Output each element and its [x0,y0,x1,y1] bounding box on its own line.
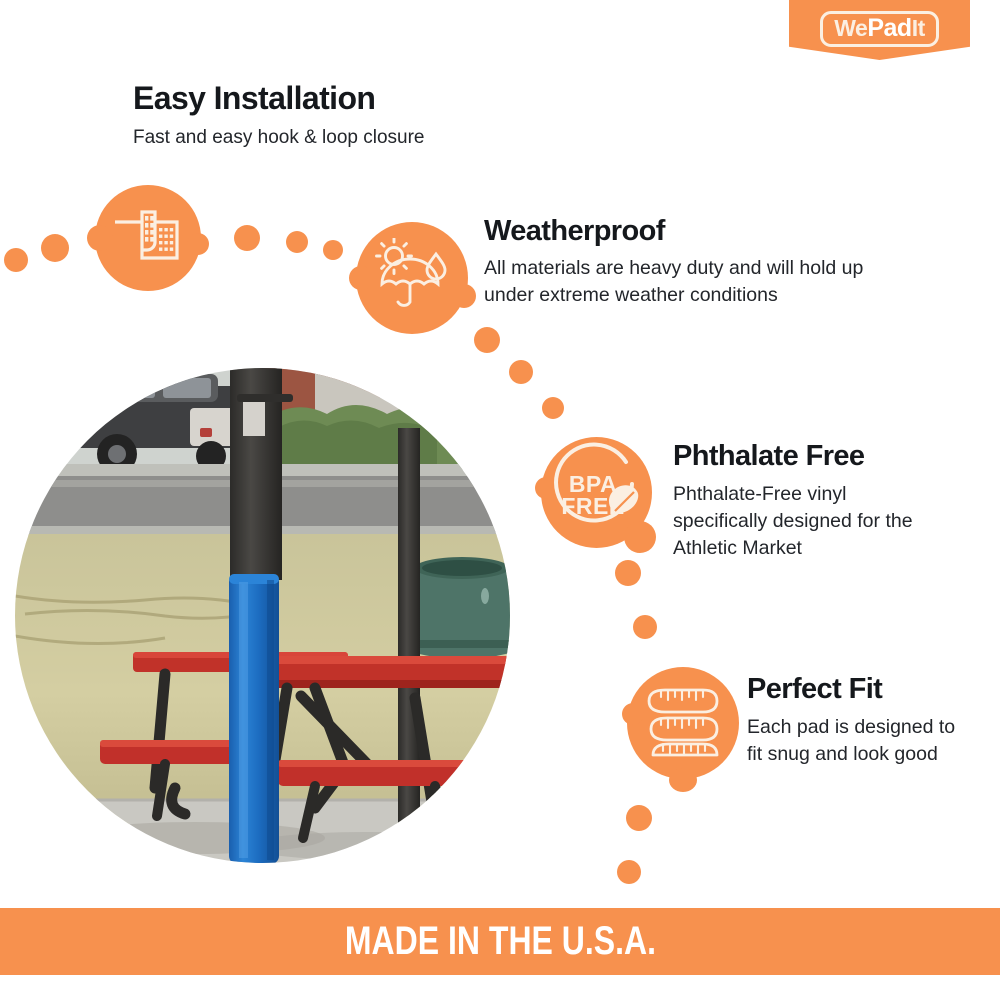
feature-title-phthalate-free: Phthalate Free [673,440,864,473]
circle-blob [187,233,209,255]
logo-text-it: It [912,17,925,40]
feature-icon-circle-perfect-fit[interactable] [627,667,739,779]
brand-logo-banner[interactable]: We Pad It [789,0,970,60]
feature-icon-circle-easy-installation[interactable] [95,185,201,291]
logo-text-pad: Pad [867,16,911,41]
trail-dot [615,560,641,586]
trail-dot [633,615,657,639]
circle-blob [87,225,113,251]
trail-dot [509,360,533,384]
trail-dot [626,805,652,831]
made-in-usa-text: MADE IN THE U.S.A. [344,919,655,964]
measuring-tape-icon [641,681,725,766]
circle-blob [452,284,476,308]
hook-and-loop-icon [111,206,185,271]
trail-dot [286,231,308,253]
feature-desc-easy-installation: Fast and easy hook & loop closure [133,124,425,151]
trail-dot [617,860,641,884]
feature-icon-circle-phthalate-free[interactable]: BPA FREE [541,437,652,548]
bpa-free-leaf-icon: BPA FREE [541,437,652,548]
made-in-usa-banner: MADE IN THE U.S.A. [0,908,1000,975]
trail-dot [474,327,500,353]
trail-dot [323,240,343,260]
circle-blob [349,266,373,290]
circle-blob [669,768,697,792]
logo-outline-box: We Pad It [820,11,939,47]
feature-desc-perfect-fit: Each pad is designed to fit snug and loo… [747,714,975,768]
logo-text-we: We [834,17,867,40]
circle-blob [622,703,644,725]
feature-desc-phthalate-free: Phthalate-Free vinyl specifically design… [673,481,935,562]
feature-desc-weatherproof: All materials are heavy duty and will ho… [484,255,889,309]
trail-dot [542,397,564,419]
trail-dot [4,248,28,272]
infographic-root: We Pad It Easy Installation Fast and eas… [0,0,1000,987]
feature-title-weatherproof: Weatherproof [484,215,665,248]
trail-dot [234,225,260,251]
product-photo [15,368,510,863]
feature-title-perfect-fit: Perfect Fit [747,673,882,706]
umbrella-sun-raindrop-icon [372,238,452,319]
feature-icon-circle-weatherproof[interactable] [356,222,468,334]
feature-title-easy-installation: Easy Installation [133,80,375,117]
trail-dot [41,234,69,262]
